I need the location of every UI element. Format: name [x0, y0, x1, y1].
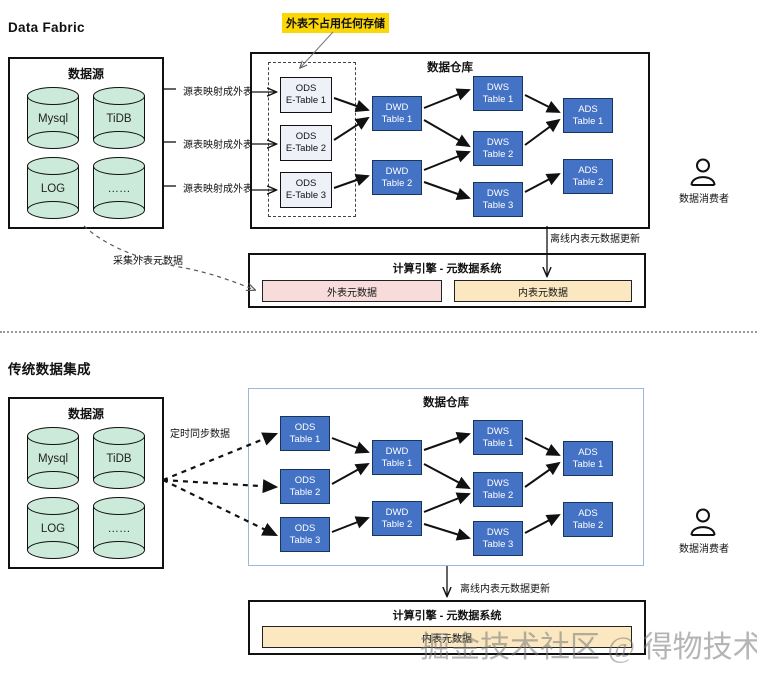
cylinder-top: [93, 497, 145, 515]
metadata-bar-internal[interactable]: 内表元数据: [454, 280, 632, 302]
flow-label-map-external-1: 源表映射成外表: [183, 83, 253, 98]
person-icon: [688, 508, 718, 536]
table-box-dwd-table-1[interactable]: DWD Table 1: [372, 96, 422, 131]
table-box-dwd-table-2[interactable]: DWD Table 2: [372, 160, 422, 195]
table-line2: Table 2: [573, 520, 604, 532]
table-line1: DWS: [487, 137, 509, 149]
cylinder-bottom: [27, 201, 79, 219]
table-box-ads-table-2[interactable]: ADS Table 2: [563, 159, 613, 194]
cylinder-top: [27, 87, 79, 105]
cylinder-bottom: [93, 201, 145, 219]
db-cylinder-tidb: TiDB: [93, 427, 145, 489]
table-box-dws-table-2[interactable]: DWS Table 2: [473, 131, 523, 166]
db-cylinder-other: ……: [93, 497, 145, 559]
table-line2: E-Table 3: [286, 190, 326, 202]
cylinder-bottom: [27, 131, 79, 149]
table-line2: Table 1: [290, 434, 321, 446]
cylinder-bottom: [93, 471, 145, 489]
table-line2: Table 2: [483, 490, 514, 502]
table-line1: DWS: [487, 426, 509, 438]
consumer-label-fabric: 数据消费者: [668, 190, 740, 205]
table-line2: Table 1: [573, 116, 604, 128]
db-label: ……: [93, 523, 145, 535]
metadata-bar-external[interactable]: 外表元数据: [262, 280, 442, 302]
flow-label-map-external-3: 源表映射成外表: [183, 180, 253, 195]
table-line1: ODS: [296, 178, 317, 190]
table-line2: Table 3: [483, 200, 514, 212]
table-line1: DWS: [487, 188, 509, 200]
table-line1: DWD: [386, 102, 409, 114]
table-box-dws-table-1[interactable]: DWS Table 1: [473, 76, 523, 111]
table-box-ods-table-2[interactable]: ODS Table 2: [280, 469, 330, 504]
cylinder-bottom: [27, 471, 79, 489]
data-source-title: 数据源: [10, 399, 162, 422]
table-line2: Table 1: [483, 94, 514, 106]
table-line2: Table 3: [290, 535, 321, 547]
db-cylinder-mysql: Mysql: [27, 427, 79, 489]
table-line2: Table 3: [483, 539, 514, 551]
table-line2: E-Table 2: [286, 143, 326, 155]
table-box-ods-e-table-3[interactable]: ODS E-Table 3: [280, 172, 332, 208]
section-title-traditional: 传统数据集成: [8, 358, 91, 378]
table-box-ads-table-1[interactable]: ADS Table 1: [563, 441, 613, 476]
data-source-title: 数据源: [10, 59, 162, 82]
cylinder-top: [93, 157, 145, 175]
person-icon: [688, 158, 718, 186]
table-line2: Table 2: [382, 519, 413, 531]
table-box-ods-e-table-1[interactable]: ODS E-Table 1: [280, 77, 332, 113]
flow-label-scheduled-sync: 定时同步数据: [170, 425, 230, 440]
table-line1: DWD: [386, 507, 409, 519]
callout-external-table-no-storage: 外表不占用任何存储: [282, 13, 389, 33]
table-box-dwd-table-2[interactable]: DWD Table 2: [372, 501, 422, 536]
table-box-ods-table-3[interactable]: ODS Table 3: [280, 517, 330, 552]
cylinder-top: [27, 427, 79, 445]
table-box-dws-table-3[interactable]: DWS Table 3: [473, 182, 523, 217]
table-box-dws-table-2[interactable]: DWS Table 2: [473, 472, 523, 507]
table-line1: ADS: [578, 508, 598, 520]
table-line2: Table 2: [573, 177, 604, 189]
table-line2: Table 1: [573, 459, 604, 471]
table-line1: ODS: [295, 422, 316, 434]
db-label: Mysql: [27, 453, 79, 465]
cylinder-top: [27, 157, 79, 175]
consumer-label-traditional: 数据消费者: [668, 540, 740, 555]
table-line1: ADS: [578, 447, 598, 459]
cylinder-top: [93, 87, 145, 105]
table-line1: ODS: [295, 475, 316, 487]
table-line2: Table 1: [382, 458, 413, 470]
db-cylinder-log: LOG: [27, 497, 79, 559]
table-line1: DWS: [487, 527, 509, 539]
table-box-ods-e-table-2[interactable]: ODS E-Table 2: [280, 125, 332, 161]
metadata-system-title: 计算引擎 - 元数据系统: [250, 255, 644, 276]
cylinder-bottom: [93, 131, 145, 149]
table-line1: DWS: [487, 82, 509, 94]
metadata-system-title: 计算引擎 - 元数据系统: [250, 602, 644, 623]
table-line2: Table 2: [290, 487, 321, 499]
data-warehouse-title: 数据仓库: [249, 389, 643, 410]
table-line1: ODS: [296, 83, 317, 95]
db-label: TiDB: [93, 113, 145, 125]
cylinder-bottom: [93, 541, 145, 559]
table-box-ads-table-1[interactable]: ADS Table 1: [563, 98, 613, 133]
cylinder-bottom: [27, 541, 79, 559]
cylinder-top: [93, 427, 145, 445]
table-line1: DWS: [487, 478, 509, 490]
table-box-dws-table-3[interactable]: DWS Table 3: [473, 521, 523, 556]
table-line2: E-Table 1: [286, 95, 326, 107]
flow-label-map-external-2: 源表映射成外表: [183, 136, 253, 151]
table-line2: Table 1: [382, 114, 413, 126]
label-collect-external-metadata: 采集外表元数据: [113, 252, 183, 267]
label-offline-internal-update-fabric: 离线内表元数据更新: [550, 230, 640, 245]
table-line2: Table 2: [483, 149, 514, 161]
cylinder-top: [27, 497, 79, 515]
section-title-data-fabric: Data Fabric: [8, 20, 85, 35]
db-label: Mysql: [27, 113, 79, 125]
db-label: LOG: [27, 523, 79, 535]
table-box-dws-table-1[interactable]: DWS Table 1: [473, 420, 523, 455]
table-line1: ODS: [295, 523, 316, 535]
table-box-ods-table-1[interactable]: ODS Table 1: [280, 416, 330, 451]
db-cylinder-tidb: TiDB: [93, 87, 145, 149]
table-line2: Table 1: [483, 438, 514, 450]
table-line1: DWD: [386, 446, 409, 458]
table-box-ads-table-2[interactable]: ADS Table 2: [563, 502, 613, 537]
db-label: TiDB: [93, 453, 145, 465]
label-offline-internal-update-traditional: 离线内表元数据更新: [460, 580, 550, 595]
db-label: ……: [93, 183, 145, 195]
db-cylinder-other: ……: [93, 157, 145, 219]
db-label: LOG: [27, 183, 79, 195]
db-cylinder-log: LOG: [27, 157, 79, 219]
table-line2: Table 2: [382, 178, 413, 190]
table-line1: ODS: [296, 131, 317, 143]
section-divider: [0, 331, 757, 333]
table-line1: DWD: [386, 166, 409, 178]
watermark-text: 掘金技术社区 @ 得物技术: [420, 622, 757, 666]
table-box-dwd-table-1[interactable]: DWD Table 1: [372, 440, 422, 475]
table-line1: ADS: [578, 104, 598, 116]
table-line1: ADS: [578, 165, 598, 177]
db-cylinder-mysql: Mysql: [27, 87, 79, 149]
